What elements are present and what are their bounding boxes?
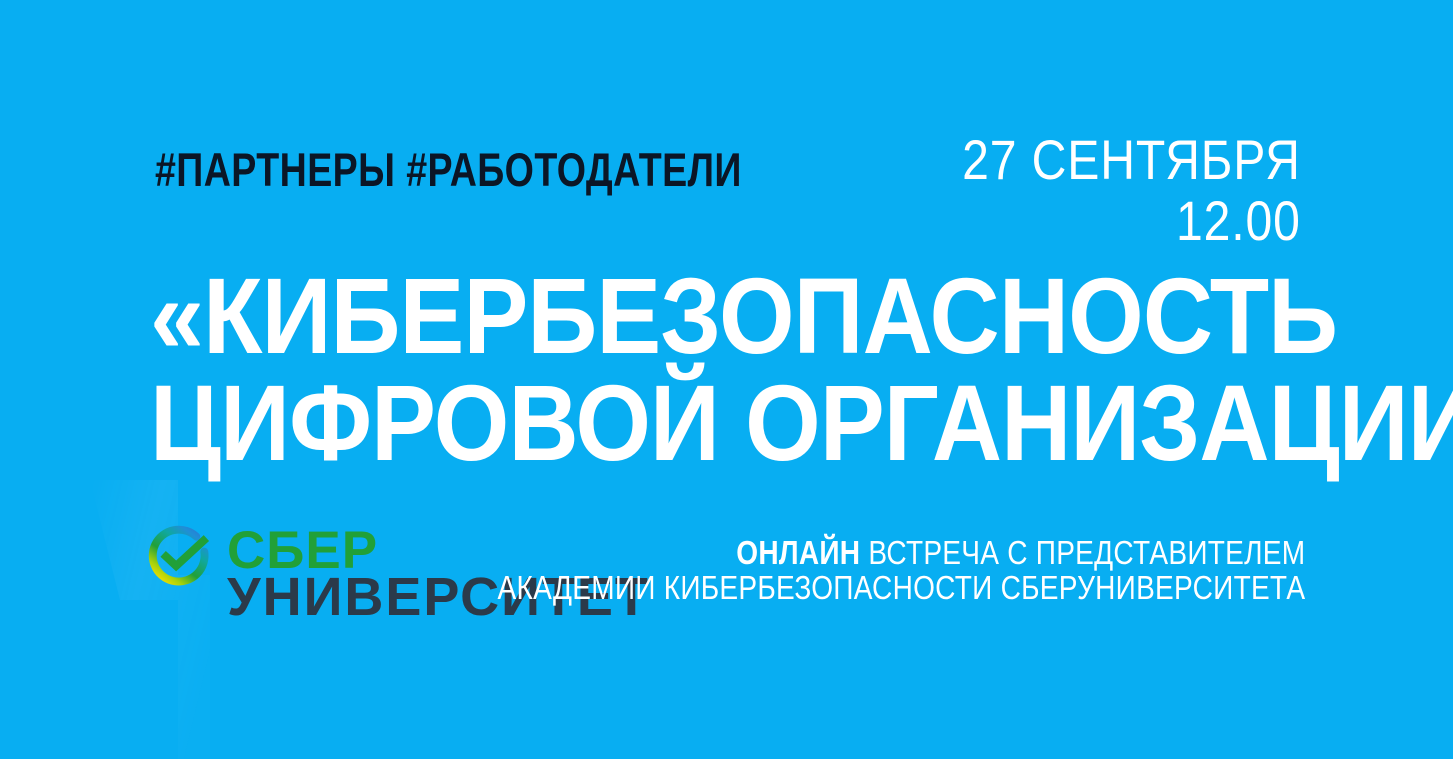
- hashtags-label: #ПАРТНЕРЫ #РАБОТОДАТЕЛИ: [155, 146, 742, 193]
- event-descriptor-line-1-rest: ВСТРЕЧА С ПРЕДСТАВИТЕЛЕМ: [860, 534, 1305, 571]
- event-title: «КИБЕРБЕЗОПАСНОСТЬ ЦИФРОВОЙ ОРГАНИЗАЦИИ»: [150, 266, 1453, 473]
- event-time: 12.00: [962, 195, 1301, 248]
- event-date: 27 СЕНТЯБРЯ: [962, 134, 1301, 187]
- event-format-label: ОНЛАЙН: [736, 534, 860, 571]
- event-descriptor-line-1: ОНЛАЙН ВСТРЕЧА С ПРЕДСТАВИТЕЛЕМ: [497, 536, 1305, 571]
- event-banner: #ПАРТНЕРЫ #РАБОТОДАТЕЛИ 27 СЕНТЯБРЯ 12.0…: [0, 0, 1453, 759]
- event-descriptor-line-2: АКАДЕМИИ КИБЕРБЕЗОПАСНОСТИ СБЕРУНИВЕРСИТ…: [497, 571, 1305, 606]
- event-datetime: 27 СЕНТЯБРЯ 12.00: [907, 134, 1301, 247]
- sber-check-ring-icon: [143, 522, 215, 594]
- event-title-line-1: «КИБЕРБЕЗОПАСНОСТЬ: [150, 266, 1453, 365]
- event-descriptor: ОНЛАЙН ВСТРЕЧА С ПРЕДСТАВИТЕЛЕМ АКАДЕМИИ…: [355, 536, 1305, 606]
- event-title-line-2: ЦИФРОВОЙ ОРГАНИЗАЦИИ»: [150, 373, 1453, 472]
